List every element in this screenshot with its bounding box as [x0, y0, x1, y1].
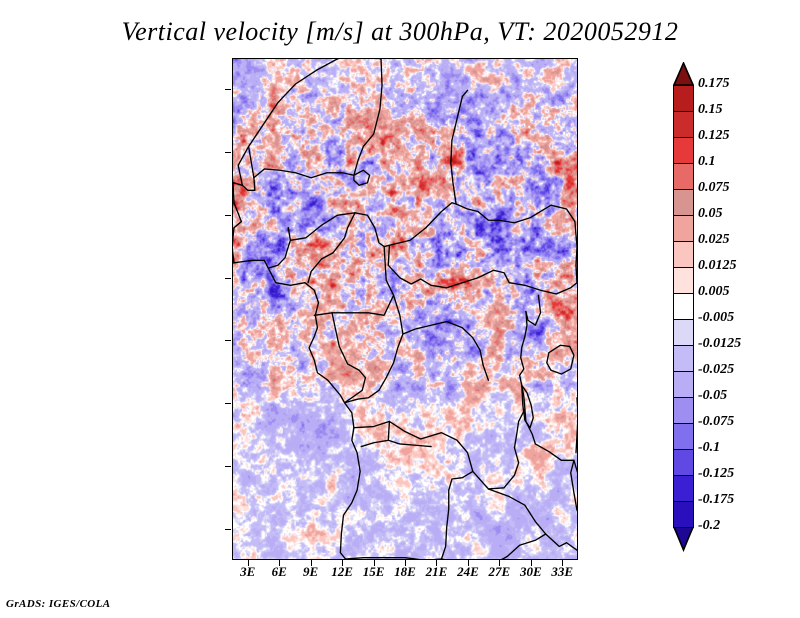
colorbar-tick-label: 0.125	[698, 128, 730, 144]
colorbar-band[interactable]	[673, 215, 694, 242]
y-axis-tick	[225, 278, 231, 279]
colorbar-tick-label: 0.05	[698, 206, 723, 222]
y-axis-tick	[225, 89, 231, 90]
colorbar-tick-label: -0.005	[698, 310, 734, 326]
colorbar-band[interactable]	[673, 189, 694, 216]
colorbar-band[interactable]	[673, 267, 694, 294]
colorbar-tick-label: -0.1	[698, 440, 720, 456]
y-axis-tick	[225, 152, 231, 153]
colorbar-band[interactable]	[673, 137, 694, 164]
colorbar-tick-label: -0.175	[698, 492, 734, 508]
colorbar-tick-label: -0.2	[698, 518, 720, 534]
colorbar-tick-label: -0.075	[698, 414, 734, 430]
y-axis-tick	[225, 466, 231, 467]
colorbar-band[interactable]	[673, 85, 694, 112]
colorbar[interactable]: 0.1750.150.1250.10.0750.050.0250.01250.0…	[673, 62, 694, 550]
colorbar-band[interactable]	[673, 423, 694, 450]
colorbar-band[interactable]	[673, 449, 694, 476]
colorbar-tick-label: 0.15	[698, 102, 723, 118]
colorbar-band[interactable]	[673, 475, 694, 502]
plot-frame	[232, 58, 578, 560]
country-borders-overlay	[233, 59, 577, 559]
colorbar-band[interactable]	[673, 111, 694, 138]
colorbar-band[interactable]	[673, 163, 694, 190]
colorbar-tick-label: 0.025	[698, 232, 730, 248]
colorbar-band[interactable]	[673, 345, 694, 372]
colorbar-tick-label: 0.175	[698, 76, 730, 92]
y-axis-tick	[225, 403, 231, 404]
colorbar-max-arrow-outline	[673, 62, 694, 85]
colorbar-min-arrow-outline	[673, 527, 694, 552]
page-title: Vertical velocity [m/s] at 300hPa, VT: 2…	[0, 17, 800, 47]
colorbar-band[interactable]	[673, 293, 694, 320]
grads-figure: Vertical velocity [m/s] at 300hPa, VT: 2…	[0, 0, 800, 618]
colorbar-tick-label: -0.125	[698, 466, 734, 482]
colorbar-band[interactable]	[673, 397, 694, 424]
colorbar-band[interactable]	[673, 501, 694, 528]
y-axis-tick	[225, 215, 231, 216]
colorbar-band[interactable]	[673, 371, 694, 398]
colorbar-tick-label: 0.075	[698, 180, 730, 196]
colorbar-tick-label: 0.005	[698, 284, 730, 300]
x-axis-label: 33E	[542, 564, 582, 580]
y-axis-tick	[225, 529, 231, 530]
y-axis-tick	[225, 340, 231, 341]
colorbar-tick-label: -0.05	[698, 388, 727, 404]
map-plot-area[interactable]: 20N15N10N5NEQ5S10S15S 3E6E9E12E15E18E21E…	[232, 58, 578, 560]
grads-credit: GrADS: IGES/COLA	[6, 598, 111, 610]
colorbar-tick-label: -0.025	[698, 362, 734, 378]
colorbar-tick-label: 0.0125	[698, 258, 737, 274]
colorbar-band[interactable]	[673, 319, 694, 346]
colorbar-tick-label: -0.0125	[698, 336, 741, 352]
colorbar-tick-label: 0.1	[698, 154, 716, 170]
colorbar-band[interactable]	[673, 241, 694, 268]
